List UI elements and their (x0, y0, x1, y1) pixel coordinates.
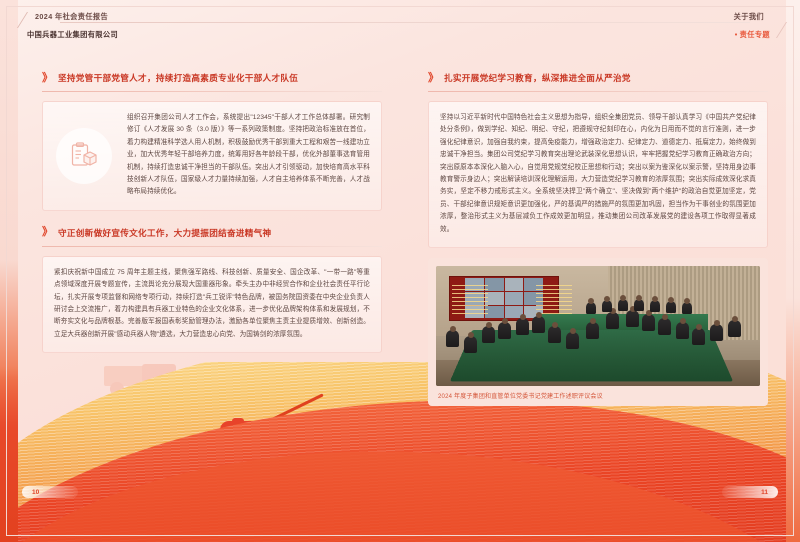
content-card-culture: 紧扣庆祝新中国成立 75 周年主题主线，聚焦强军路线、科技创新、质量安全、国企改… (42, 256, 382, 353)
section-title: 守正创新做好宣传文化工作，大力提振团结奋进精气神 (58, 227, 271, 239)
content-card-talent: 组织召开集团公司人才工作会，系统提出"12345"干部人才工作总体部署。研究制修… (42, 101, 382, 211)
header-rule (60, 22, 750, 23)
right-column: 》 扎实开展党纪学习教育，纵深推进全面从严治党 坚持以习近平新时代中国特色社会主… (428, 72, 768, 248)
chevron-double-right-icon: 》 (428, 73, 437, 84)
page-header: 2024 年社会责任报告 中国兵器工业集团有限公司 关于我们 •责任专题 (0, 0, 800, 50)
company-name: 中国兵器工业集团有限公司 (27, 30, 118, 40)
section-body-text: 紧扣庆祝新中国成立 75 周年主题主线，聚焦强军路线、科技创新、质量安全、国企改… (54, 267, 370, 341)
section-title: 坚持党管干部党管人才，持续打造高素质专业化干部人才队伍 (58, 72, 298, 84)
photo-attendees (436, 266, 760, 386)
section-title: 扎实开展党纪学习教育，纵深推进全面从严治党 (444, 72, 631, 84)
chevron-double-right-icon: 》 (42, 73, 51, 84)
section-divider (42, 91, 382, 92)
header-section-current: •责任专题 (735, 30, 770, 40)
clipboard-checklist-icon (56, 128, 112, 184)
header-section-about: 关于我们 (734, 12, 764, 22)
content-card-discipline: 坚持以习近平新时代中国特色社会主义思想为指导，组织全集团党员、领导干部认真学习《… (428, 101, 768, 248)
right-edge-strip (786, 0, 800, 542)
bullet-icon: • (735, 30, 738, 39)
meeting-photo (436, 266, 760, 386)
report-page: 和 (0, 0, 800, 542)
photo-card: 2024 年度子集团和直管单位党委书记党建工作述职评议会议 (428, 258, 768, 406)
section-heading-culture: 》 守正创新做好宣传文化工作，大力提振团结奋进精气神 (42, 227, 382, 246)
section-divider (42, 246, 382, 247)
section-body-text: 组织召开集团公司人才工作会，系统提出"12345"干部人才工作总体部署。研究制修… (127, 112, 370, 199)
photo-caption: 2024 年度子集团和直管单位党委书记党建工作述职评议会议 (436, 391, 760, 400)
page-number-right: 11 (722, 486, 778, 498)
left-spine-strip (0, 0, 18, 542)
section-body-text: 坚持以习近平新时代中国特色社会主义思想为指导，组织全集团党员、领导干部认真学习《… (440, 112, 756, 236)
section-heading-discipline: 》 扎实开展党纪学习教育，纵深推进全面从严治党 (428, 72, 768, 91)
left-column: 》 坚持党管干部党管人才，持续打造高素质专业化干部人才队伍 组织召开集团公司人才… (42, 72, 382, 353)
header-section-current-label: 责任专题 (740, 30, 770, 39)
section-heading-talent: 》 坚持党管干部党管人才，持续打造高素质专业化干部人才队伍 (42, 72, 382, 91)
section-divider (428, 91, 768, 92)
page-number-left: 10 (22, 486, 78, 498)
report-title: 2024 年社会责任报告 (35, 12, 108, 22)
chevron-double-right-icon: 》 (42, 227, 51, 238)
